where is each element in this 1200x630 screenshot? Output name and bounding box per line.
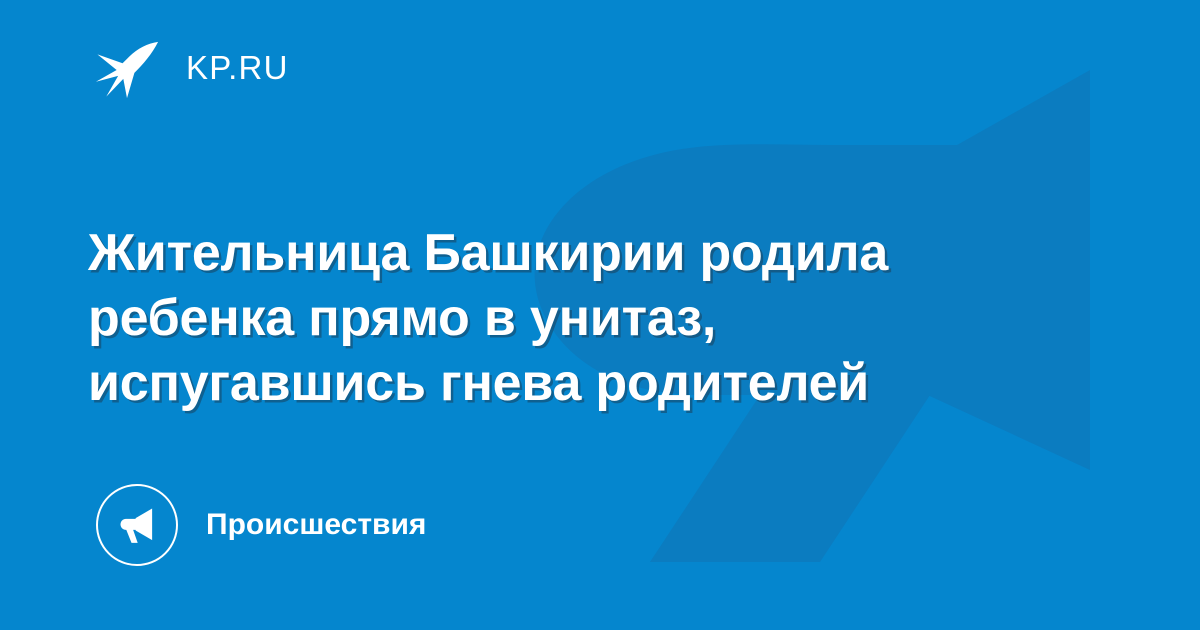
headline-line-1: Жительница Башкирии родила (88, 221, 1088, 286)
megaphone-icon (96, 484, 178, 566)
category-badge[interactable]: Происшествия (96, 484, 426, 566)
brand-wordmark: KP.RU (186, 51, 289, 84)
category-label: Происшествия (206, 510, 426, 540)
headline-line-3: испугавшись гнева родителей (88, 351, 1088, 416)
headline-line-2: ребенка прямо в унитаз, (88, 286, 1088, 351)
swallow-bird-icon (90, 30, 164, 104)
social-share-card: KP.RU Жительница Башкирии родила ребенка… (0, 0, 1200, 630)
brand-logo[interactable]: KP.RU (90, 30, 289, 104)
headline: Жительница Башкирии родила ребенка прямо… (88, 221, 1088, 416)
